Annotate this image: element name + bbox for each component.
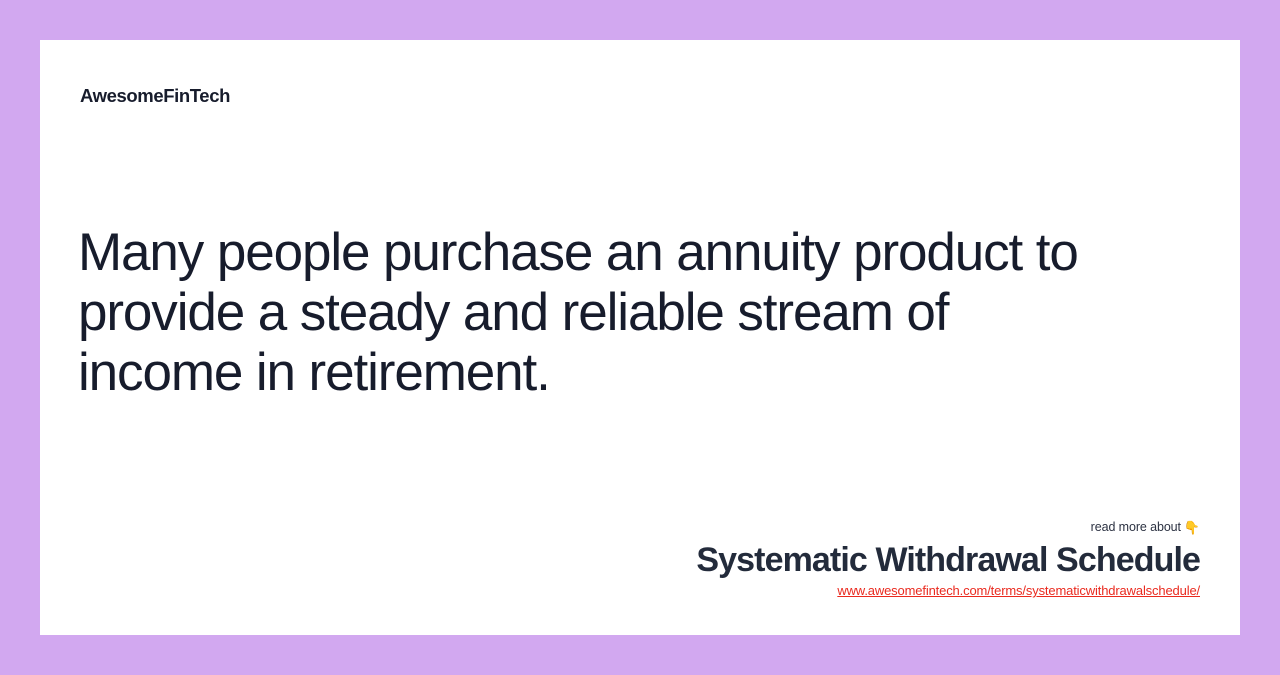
page-canvas: AwesomeFinTech Many people purchase an a… xyxy=(0,0,1280,675)
term-footer: read more about👇 Systematic Withdrawal S… xyxy=(200,519,1200,600)
headline-line-1: Many people purchase an annuity product … xyxy=(78,223,1198,283)
headline-line-3: income in retirement. xyxy=(78,343,1198,403)
quote-card: AwesomeFinTech Many people purchase an a… xyxy=(40,40,1240,635)
read-more-row: read more about👇 xyxy=(200,519,1200,536)
pointing-down-icon: 👇 xyxy=(1184,520,1200,535)
term-title: Systematic Withdrawal Schedule xyxy=(200,540,1200,580)
headline-quote: Many people purchase an annuity product … xyxy=(78,223,1198,403)
term-url-link[interactable]: www.awesomefintech.com/terms/systematicw… xyxy=(837,582,1200,599)
read-more-label: read more about xyxy=(1091,520,1181,534)
brand-logo-text: AwesomeFinTech xyxy=(80,85,230,107)
headline-line-2: provide a steady and reliable stream of xyxy=(78,283,1198,343)
